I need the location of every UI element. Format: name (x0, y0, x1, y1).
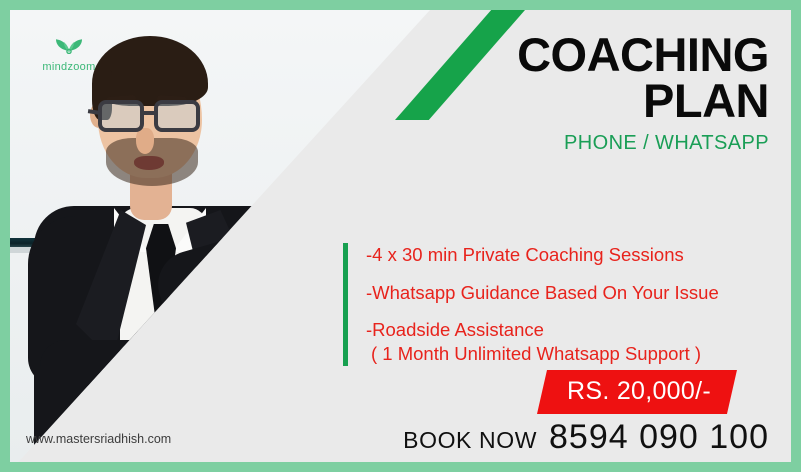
banner-inner-panel: mindzoom COACHING PLAN PHONE / WHATSAPP … (10, 10, 791, 462)
feature-subtext: ( 1 Month Unlimited Whatsapp Support ) (366, 342, 791, 366)
feature-text: -4 x 30 min Private Coaching Sessions (366, 244, 684, 265)
page-title-line2: PLAN (517, 78, 769, 124)
price-badge: RS. 20,000/- (537, 370, 737, 414)
eyeglass-bridge (142, 111, 156, 115)
page-title-line1: COACHING (517, 32, 769, 78)
feature-text: -Roadside Assistance (366, 319, 544, 340)
coaching-plan-banner: mindzoom COACHING PLAN PHONE / WHATSAPP … (0, 0, 801, 472)
brand-logo-text: mindzoom (32, 61, 106, 73)
sleeve-buttons (132, 329, 171, 360)
eyeglasses-icon (98, 100, 208, 134)
presenter-photo (10, 10, 430, 462)
leaf-sprout-icon (43, 28, 95, 54)
mouth (134, 156, 164, 170)
book-now-label: BOOK NOW (403, 427, 537, 454)
list-item: -Roadside Assistance ( 1 Month Unlimited… (366, 318, 791, 365)
page-subtitle: PHONE / WHATSAPP (517, 132, 769, 155)
eyeglass-lens-right (154, 100, 200, 132)
eyeglass-lens-left (98, 100, 144, 132)
list-item: -4 x 30 min Private Coaching Sessions (366, 243, 791, 267)
website-url[interactable]: www.mastersriadhish.com (26, 432, 171, 446)
list-item: -Whatsapp Guidance Based On Your Issue (366, 281, 791, 305)
title-block: COACHING PLAN PHONE / WHATSAPP (517, 32, 769, 155)
call-to-action: BOOK NOW 8594 090 100 (403, 418, 769, 457)
brand-logo: mindzoom (32, 28, 106, 73)
phone-number[interactable]: 8594 090 100 (549, 418, 769, 457)
presenter-figure (10, 10, 430, 462)
feature-text: -Whatsapp Guidance Based On Your Issue (366, 282, 719, 303)
feature-list: -4 x 30 min Private Coaching Sessions -W… (343, 243, 791, 366)
